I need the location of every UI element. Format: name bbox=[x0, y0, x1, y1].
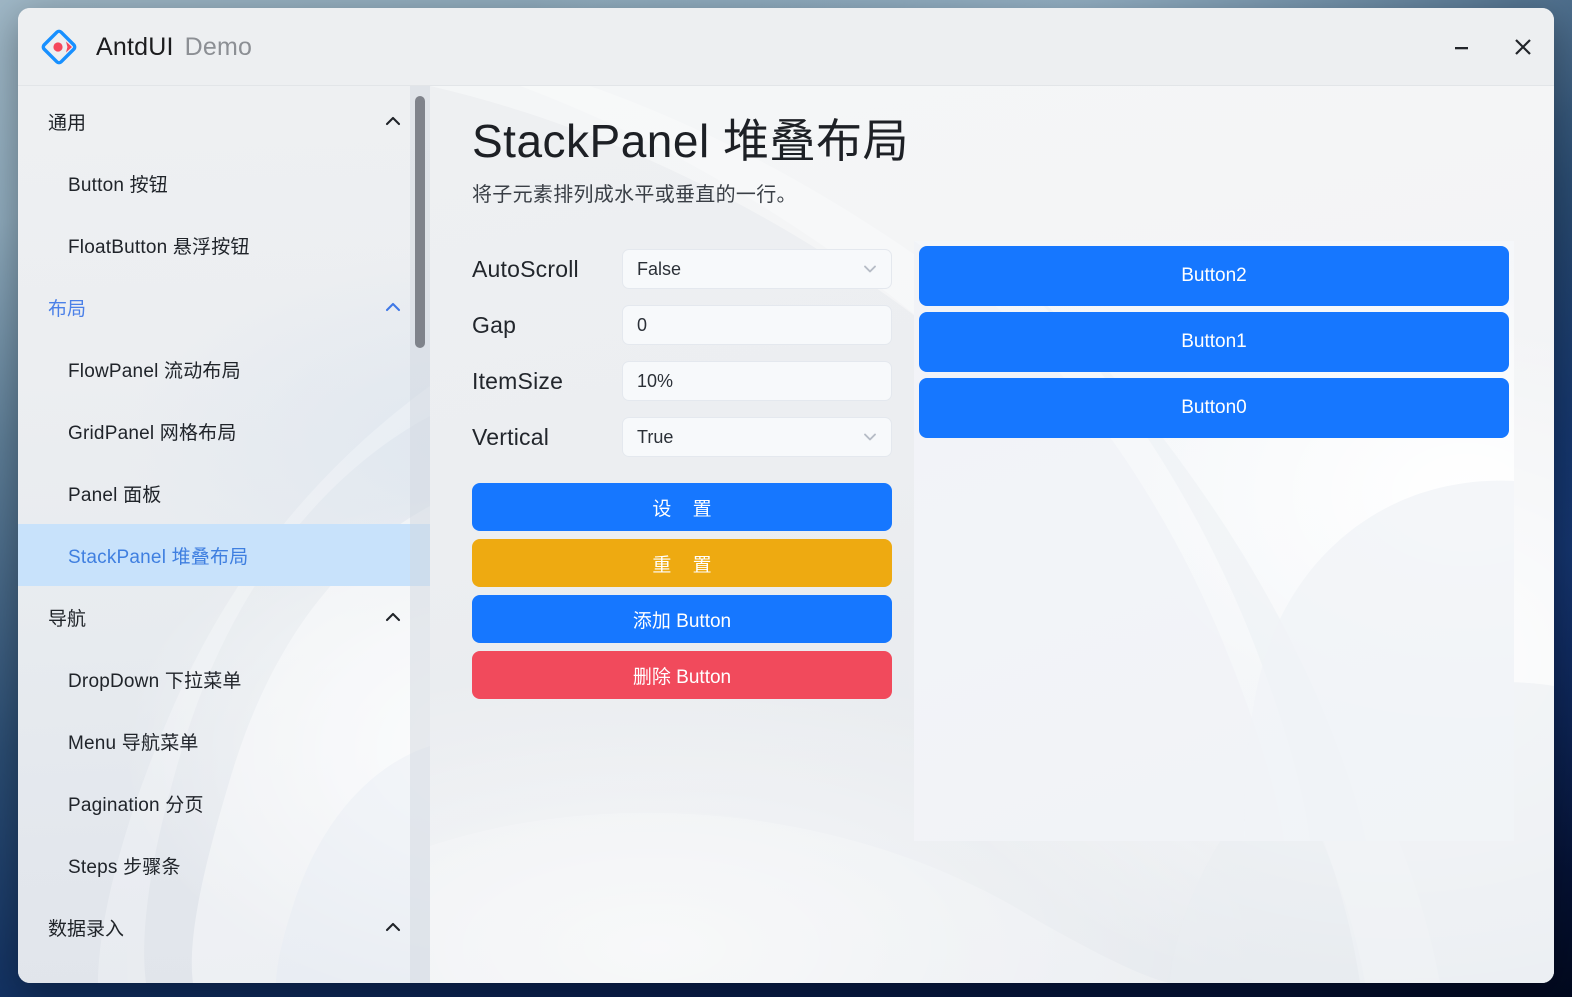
itemsize-label: ItemSize bbox=[472, 368, 622, 395]
form-row-gap: Gap 0 bbox=[472, 297, 892, 353]
sidebar-scrollbar-thumb[interactable] bbox=[415, 96, 425, 348]
sidebar-item-menu[interactable]: Menu 导航菜单 bbox=[18, 710, 430, 772]
sidebar-item-label: DropDown 下拉菜单 bbox=[68, 666, 242, 693]
app-title: AntdUIDemo bbox=[96, 33, 252, 62]
settings-form: AutoScroll False Gap 0 bbox=[472, 241, 892, 841]
chevron-up-icon bbox=[382, 296, 404, 318]
gap-label: Gap bbox=[472, 312, 622, 339]
chevron-up-icon bbox=[382, 110, 404, 132]
sidebar-nav: 通用 Button 按钮 FloatButton 悬浮按钮 布局 bbox=[18, 86, 430, 958]
preview-button-1[interactable]: Button1 bbox=[919, 312, 1509, 372]
sidebar-item-label: Steps 步骤条 bbox=[68, 852, 181, 879]
page-header: StackPanel 堆叠布局 将子元素排列成水平或垂直的一行。 bbox=[430, 86, 1554, 207]
app-name: AntdUI bbox=[96, 33, 174, 61]
sidebar-group-data-entry[interactable]: 数据录入 bbox=[18, 896, 430, 958]
sidebar-group-data-entry-label: 数据录入 bbox=[48, 914, 124, 941]
sidebar-item-label: FlowPanel 流动布局 bbox=[68, 356, 241, 383]
window-controls bbox=[1430, 8, 1554, 86]
antdui-diamond-logo-icon bbox=[40, 28, 78, 66]
chevron-up-icon bbox=[382, 606, 404, 628]
demo-panes: AutoScroll False Gap 0 bbox=[430, 241, 1554, 841]
vertical-select[interactable]: True bbox=[622, 417, 892, 457]
sidebar-item-pagination[interactable]: Pagination 分页 bbox=[18, 772, 430, 834]
form-row-vertical: Vertical True bbox=[472, 409, 892, 465]
sidebar-item-panel[interactable]: Panel 面板 bbox=[18, 462, 430, 524]
autoscroll-label: AutoScroll bbox=[472, 256, 622, 283]
apply-settings-button[interactable]: 设 置 bbox=[472, 483, 892, 531]
reset-button[interactable]: 重 置 bbox=[472, 539, 892, 587]
main-content: StackPanel 堆叠布局 将子元素排列成水平或垂直的一行。 AutoScr… bbox=[430, 86, 1554, 983]
chevron-down-icon bbox=[861, 428, 879, 446]
preview-button-0[interactable]: Button0 bbox=[919, 378, 1509, 438]
sidebar-item-steps[interactable]: Steps 步骤条 bbox=[18, 834, 430, 896]
preview-button-2[interactable]: Button2 bbox=[919, 246, 1509, 306]
chevron-up-icon bbox=[382, 916, 404, 938]
add-button-button[interactable]: 添加 Button bbox=[472, 595, 892, 643]
sidebar-item-gridpanel[interactable]: GridPanel 网格布局 bbox=[18, 400, 430, 462]
sidebar-item-label: Menu 导航菜单 bbox=[68, 728, 199, 755]
gap-input[interactable]: 0 bbox=[622, 305, 892, 345]
sidebar-item-button[interactable]: Button 按钮 bbox=[18, 152, 430, 214]
action-buttons: 设 置 重 置 添加 Button 删除 Button bbox=[472, 483, 892, 699]
chevron-down-icon bbox=[861, 260, 879, 278]
minimize-icon bbox=[1452, 38, 1471, 57]
app-subtitle: Demo bbox=[185, 33, 253, 61]
sidebar-item-floatbutton[interactable]: FloatButton 悬浮按钮 bbox=[18, 214, 430, 276]
title-bar: AntdUIDemo bbox=[18, 8, 1554, 86]
sidebar-group-layout[interactable]: 布局 bbox=[18, 276, 430, 338]
sidebar-group-layout-label: 布局 bbox=[48, 294, 86, 321]
sidebar-item-dropdown[interactable]: DropDown 下拉菜单 bbox=[18, 648, 430, 710]
app-window: AntdUIDemo bbox=[18, 8, 1554, 983]
stack-container: Button2 Button1 Button0 bbox=[914, 241, 1514, 443]
delete-button-button[interactable]: 删除 Button bbox=[472, 651, 892, 699]
sidebar-item-label: Button 按钮 bbox=[68, 170, 168, 197]
sidebar-scrollbar-track[interactable] bbox=[410, 86, 430, 983]
sidebar-item-label: GridPanel 网格布局 bbox=[68, 418, 237, 445]
sidebar-group-general[interactable]: 通用 bbox=[18, 90, 430, 152]
sidebar-item-stackpanel[interactable]: StackPanel 堆叠布局 bbox=[18, 524, 430, 586]
sidebar-group-general-label: 通用 bbox=[48, 108, 86, 135]
sidebar-group-navigation-label: 导航 bbox=[48, 604, 86, 631]
sidebar-item-flowpanel[interactable]: FlowPanel 流动布局 bbox=[18, 338, 430, 400]
vertical-label: Vertical bbox=[472, 424, 622, 451]
minimize-button[interactable] bbox=[1430, 8, 1492, 86]
form-row-itemsize: ItemSize 10% bbox=[472, 353, 892, 409]
sidebar: 通用 Button 按钮 FloatButton 悬浮按钮 布局 bbox=[18, 86, 430, 983]
autoscroll-select[interactable]: False bbox=[622, 249, 892, 289]
vertical-value: True bbox=[637, 427, 673, 448]
close-button[interactable] bbox=[1492, 8, 1554, 86]
page-title: StackPanel 堆叠布局 bbox=[472, 114, 1554, 168]
itemsize-value: 10% bbox=[637, 371, 673, 392]
sidebar-item-label: Panel 面板 bbox=[68, 480, 161, 507]
window-content: 通用 Button 按钮 FloatButton 悬浮按钮 布局 bbox=[18, 86, 1554, 983]
sidebar-group-navigation[interactable]: 导航 bbox=[18, 586, 430, 648]
form-row-autoscroll: AutoScroll False bbox=[472, 241, 892, 297]
sidebar-item-label: StackPanel 堆叠布局 bbox=[68, 542, 248, 569]
stackpanel-preview: Button2 Button1 Button0 bbox=[914, 241, 1514, 841]
close-icon bbox=[1512, 36, 1534, 58]
sidebar-item-label: FloatButton 悬浮按钮 bbox=[68, 232, 250, 259]
autoscroll-value: False bbox=[637, 259, 681, 280]
itemsize-input[interactable]: 10% bbox=[622, 361, 892, 401]
sidebar-item-label: Pagination 分页 bbox=[68, 790, 204, 817]
gap-value: 0 bbox=[637, 315, 647, 336]
page-subtitle: 将子元素排列成水平或垂直的一行。 bbox=[472, 178, 1554, 207]
